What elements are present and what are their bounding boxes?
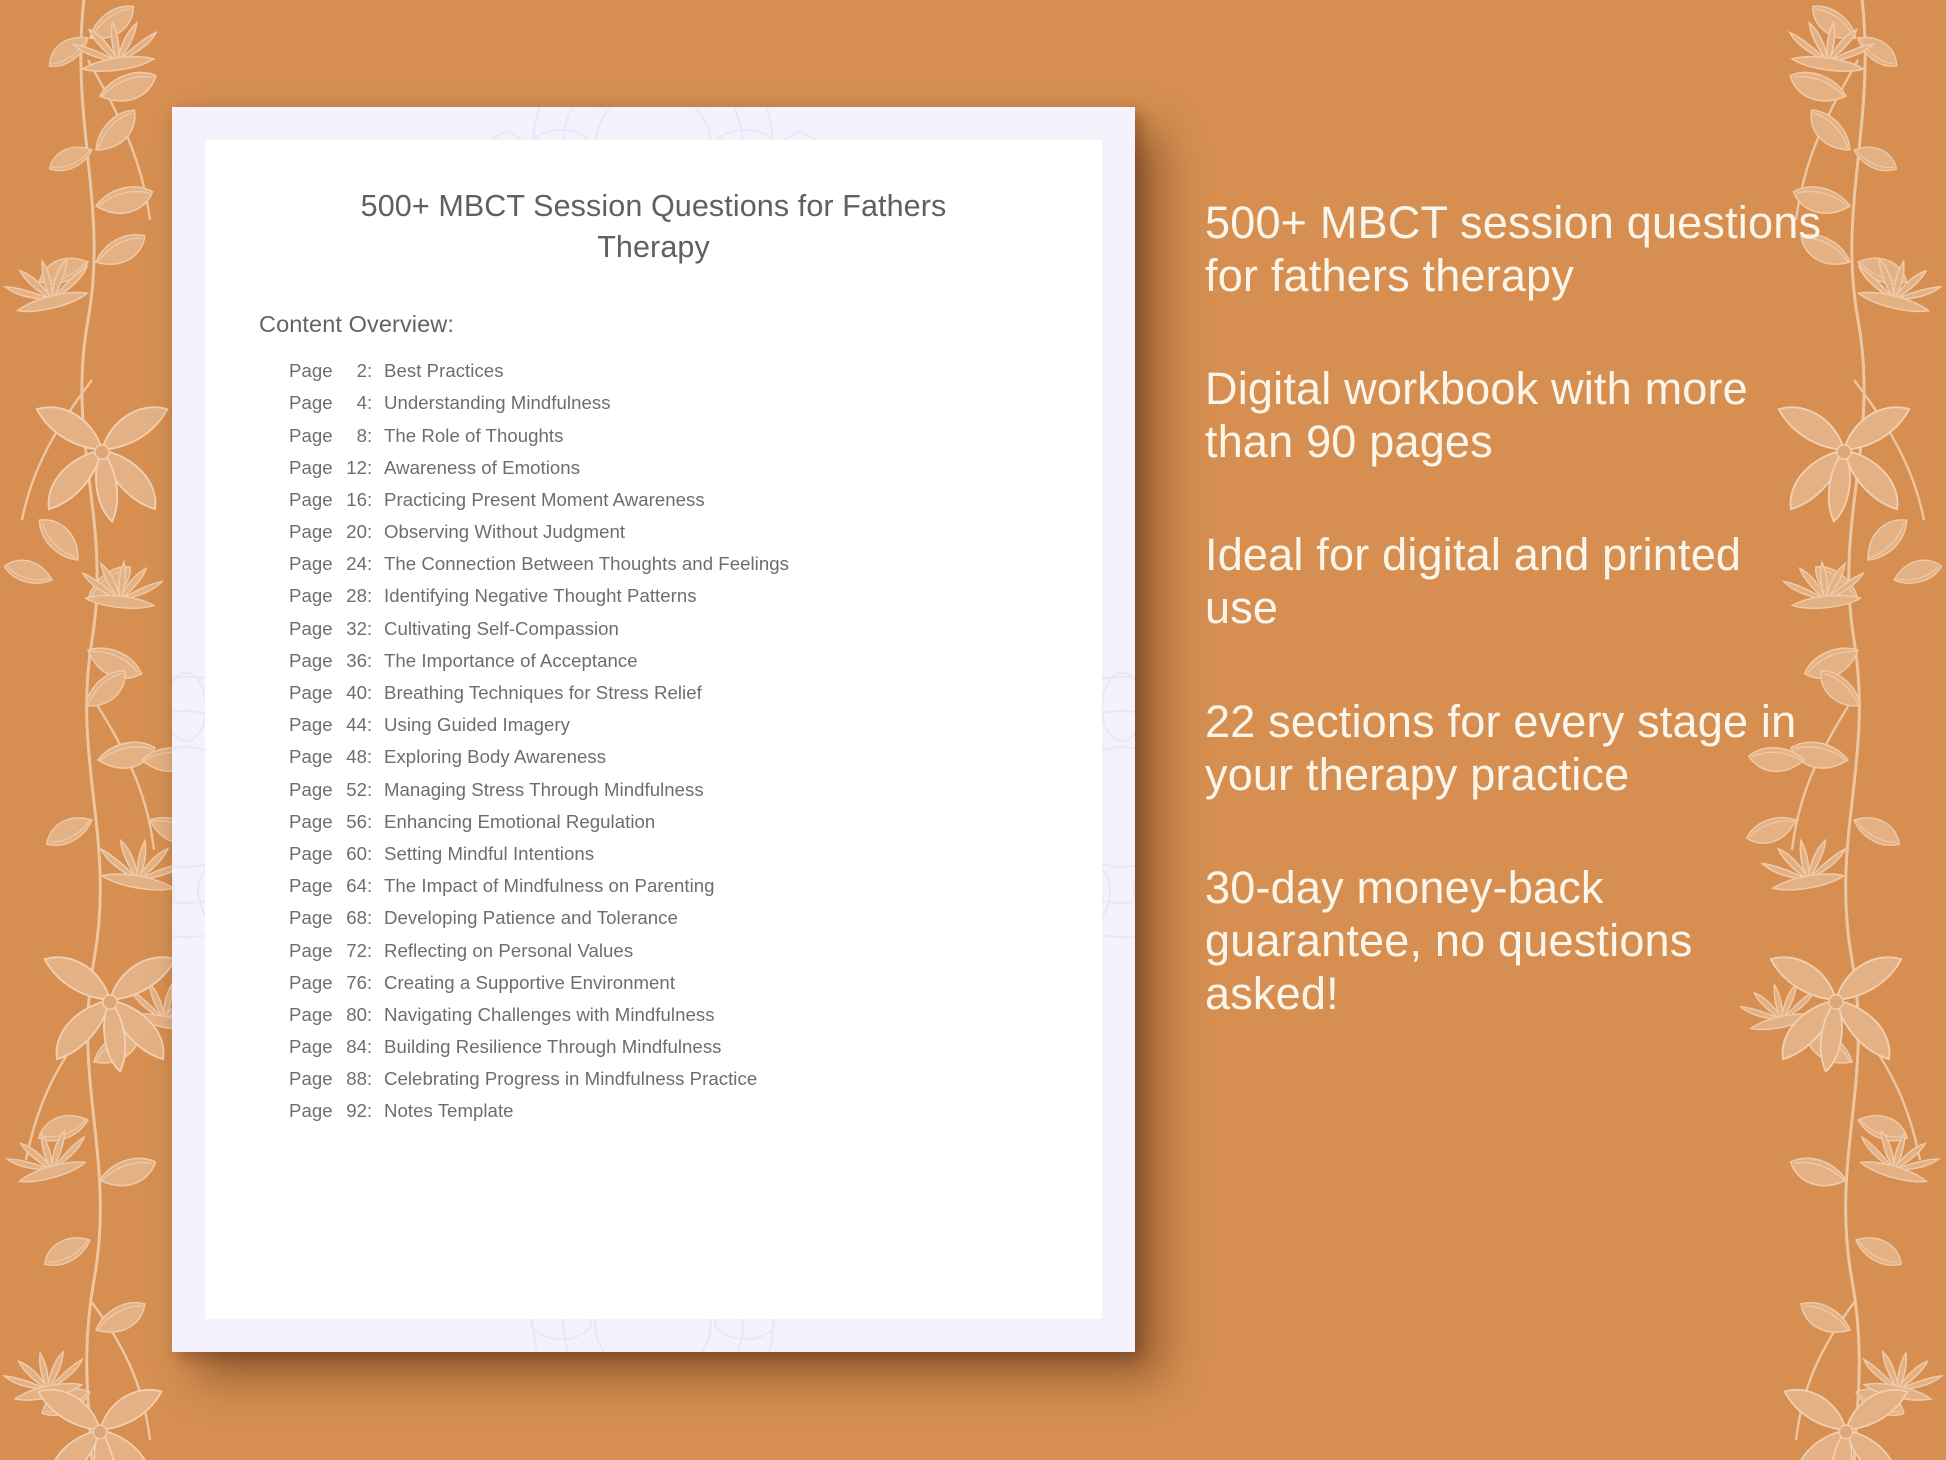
toc-colon: :	[367, 1070, 384, 1089]
document-preview-card: 500+ MBCT Session Questions for Fathers …	[172, 107, 1135, 1352]
toc-page-number: 88	[337, 1070, 367, 1089]
toc-page-word: Page	[289, 684, 337, 703]
table-of-contents-row: Page92:Notes Template	[289, 1102, 1102, 1134]
toc-page-word: Page	[289, 1102, 337, 1121]
toc-page-word: Page	[289, 620, 337, 639]
table-of-contents-list: Page2:Best PracticesPage4:Understanding …	[205, 338, 1102, 1135]
document-page: 500+ MBCT Session Questions for Fathers …	[205, 140, 1102, 1319]
table-of-contents-row: Page44:Using Guided Imagery	[289, 716, 1102, 748]
toc-section-title: Understanding Mindfulness	[384, 394, 611, 413]
content-overview-label: Content Overview:	[205, 267, 1102, 338]
table-of-contents-row: Page56:Enhancing Emotional Regulation	[289, 813, 1102, 845]
toc-section-title: Exploring Body Awareness	[384, 748, 606, 767]
toc-page-word: Page	[289, 942, 337, 961]
table-of-contents-row: Page32:Cultivating Self-Compassion	[289, 620, 1102, 652]
toc-colon: :	[367, 684, 384, 703]
toc-section-title: Setting Mindful Intentions	[384, 845, 594, 864]
toc-colon: :	[367, 974, 384, 993]
marketing-bullet: 30-day money-back guarantee, no question…	[1205, 861, 1825, 1020]
toc-section-title: Reflecting on Personal Values	[384, 942, 633, 961]
toc-colon: :	[367, 716, 384, 735]
toc-page-word: Page	[289, 362, 337, 381]
table-of-contents-row: Page60:Setting Mindful Intentions	[289, 845, 1102, 877]
toc-page-word: Page	[289, 459, 337, 478]
toc-page-word: Page	[289, 748, 337, 767]
toc-page-number: 68	[337, 909, 367, 928]
toc-page-number: 44	[337, 716, 367, 735]
toc-page-number: 60	[337, 845, 367, 864]
toc-colon: :	[367, 362, 384, 381]
table-of-contents-row: Page80:Navigating Challenges with Mindfu…	[289, 1006, 1102, 1038]
toc-page-word: Page	[289, 491, 337, 510]
toc-page-number: 92	[337, 1102, 367, 1121]
toc-colon: :	[367, 845, 384, 864]
toc-section-title: The Role of Thoughts	[384, 427, 563, 446]
toc-page-number: 84	[337, 1038, 367, 1057]
toc-colon: :	[367, 942, 384, 961]
toc-page-number: 32	[337, 620, 367, 639]
promo-graphic-canvas: 500+ MBCT Session Questions for Fathers …	[0, 0, 1946, 1460]
toc-colon: :	[367, 909, 384, 928]
toc-colon: :	[367, 459, 384, 478]
toc-page-number: 80	[337, 1006, 367, 1025]
toc-colon: :	[367, 813, 384, 832]
toc-page-number: 16	[337, 491, 367, 510]
table-of-contents-row: Page28:Identifying Negative Thought Patt…	[289, 587, 1102, 619]
toc-section-title: Developing Patience and Tolerance	[384, 909, 678, 928]
toc-page-word: Page	[289, 1070, 337, 1089]
toc-page-word: Page	[289, 716, 337, 735]
table-of-contents-row: Page88:Celebrating Progress in Mindfulne…	[289, 1070, 1102, 1102]
toc-page-number: 52	[337, 781, 367, 800]
table-of-contents-row: Page48:Exploring Body Awareness	[289, 748, 1102, 780]
table-of-contents-row: Page8:The Role of Thoughts	[289, 427, 1102, 459]
table-of-contents-row: Page4:Understanding Mindfulness	[289, 394, 1102, 426]
toc-section-title: Identifying Negative Thought Patterns	[384, 587, 697, 606]
toc-page-number: 4	[337, 394, 367, 413]
toc-page-word: Page	[289, 781, 337, 800]
marketing-bullet: 500+ MBCT session questions for fathers …	[1205, 196, 1825, 302]
toc-colon: :	[367, 587, 384, 606]
toc-section-title: Best Practices	[384, 362, 504, 381]
toc-section-title: Creating a Supportive Environment	[384, 974, 675, 993]
toc-section-title: Enhancing Emotional Regulation	[384, 813, 655, 832]
marketing-bullet: 22 sections for every stage in your ther…	[1205, 695, 1825, 801]
toc-colon: :	[367, 748, 384, 767]
toc-section-title: Cultivating Self-Compassion	[384, 620, 619, 639]
toc-page-number: 2	[337, 362, 367, 381]
toc-colon: :	[367, 427, 384, 446]
table-of-contents-row: Page16:Practicing Present Moment Awarene…	[289, 491, 1102, 523]
toc-page-number: 64	[337, 877, 367, 896]
toc-page-number: 28	[337, 587, 367, 606]
toc-page-number: 72	[337, 942, 367, 961]
toc-page-number: 56	[337, 813, 367, 832]
toc-page-number: 12	[337, 459, 367, 478]
toc-colon: :	[367, 781, 384, 800]
toc-colon: :	[367, 555, 384, 574]
toc-colon: :	[367, 1038, 384, 1057]
toc-section-title: Awareness of Emotions	[384, 459, 580, 478]
toc-page-number: 24	[337, 555, 367, 574]
marketing-copy-column: 500+ MBCT session questions for fathers …	[1205, 196, 1825, 1020]
toc-colon: :	[367, 1006, 384, 1025]
toc-page-number: 8	[337, 427, 367, 446]
table-of-contents-row: Page64:The Impact of Mindfulness on Pare…	[289, 877, 1102, 909]
toc-section-title: The Connection Between Thoughts and Feel…	[384, 555, 789, 574]
table-of-contents-row: Page2:Best Practices	[289, 362, 1102, 394]
toc-page-word: Page	[289, 523, 337, 542]
toc-colon: :	[367, 652, 384, 671]
toc-page-number: 76	[337, 974, 367, 993]
table-of-contents-row: Page20:Observing Without Judgment	[289, 523, 1102, 555]
toc-page-word: Page	[289, 555, 337, 574]
table-of-contents-row: Page76:Creating a Supportive Environment	[289, 974, 1102, 1006]
toc-page-number: 48	[337, 748, 367, 767]
marketing-bullet: Ideal for digital and printed use	[1205, 528, 1825, 634]
toc-colon: :	[367, 523, 384, 542]
table-of-contents-row: Page24:The Connection Between Thoughts a…	[289, 555, 1102, 587]
toc-section-title: Using Guided Imagery	[384, 716, 570, 735]
toc-page-word: Page	[289, 1038, 337, 1057]
toc-page-word: Page	[289, 813, 337, 832]
toc-page-word: Page	[289, 1006, 337, 1025]
toc-page-word: Page	[289, 877, 337, 896]
table-of-contents-row: Page12:Awareness of Emotions	[289, 459, 1102, 491]
toc-section-title: Managing Stress Through Mindfulness	[384, 781, 704, 800]
toc-page-word: Page	[289, 845, 337, 864]
marketing-bullet: Digital workbook with more than 90 pages	[1205, 362, 1825, 468]
toc-section-title: Notes Template	[384, 1102, 514, 1121]
toc-page-number: 20	[337, 523, 367, 542]
toc-page-number: 36	[337, 652, 367, 671]
toc-page-word: Page	[289, 587, 337, 606]
toc-page-word: Page	[289, 427, 337, 446]
toc-section-title: The Importance of Acceptance	[384, 652, 638, 671]
table-of-contents-row: Page68:Developing Patience and Tolerance	[289, 909, 1102, 941]
toc-colon: :	[367, 620, 384, 639]
table-of-contents-row: Page52:Managing Stress Through Mindfulne…	[289, 781, 1102, 813]
toc-section-title: Practicing Present Moment Awareness	[384, 491, 705, 510]
toc-page-word: Page	[289, 974, 337, 993]
table-of-contents-row: Page40:Breathing Techniques for Stress R…	[289, 684, 1102, 716]
toc-page-word: Page	[289, 394, 337, 413]
table-of-contents-row: Page84:Building Resilience Through Mindf…	[289, 1038, 1102, 1070]
toc-section-title: Observing Without Judgment	[384, 523, 625, 542]
table-of-contents-row: Page72:Reflecting on Personal Values	[289, 942, 1102, 974]
toc-colon: :	[367, 877, 384, 896]
toc-section-title: The Impact of Mindfulness on Parenting	[384, 877, 715, 896]
page-title: 500+ MBCT Session Questions for Fathers …	[205, 140, 1102, 267]
toc-section-title: Breathing Techniques for Stress Relief	[384, 684, 702, 703]
toc-colon: :	[367, 491, 384, 510]
table-of-contents-row: Page36:The Importance of Acceptance	[289, 652, 1102, 684]
toc-section-title: Navigating Challenges with Mindfulness	[384, 1006, 715, 1025]
toc-colon: :	[367, 1102, 384, 1121]
toc-page-word: Page	[289, 909, 337, 928]
toc-page-number: 40	[337, 684, 367, 703]
toc-page-word: Page	[289, 652, 337, 671]
toc-section-title: Celebrating Progress in Mindfulness Prac…	[384, 1070, 757, 1089]
toc-colon: :	[367, 394, 384, 413]
toc-section-title: Building Resilience Through Mindfulness	[384, 1038, 722, 1057]
